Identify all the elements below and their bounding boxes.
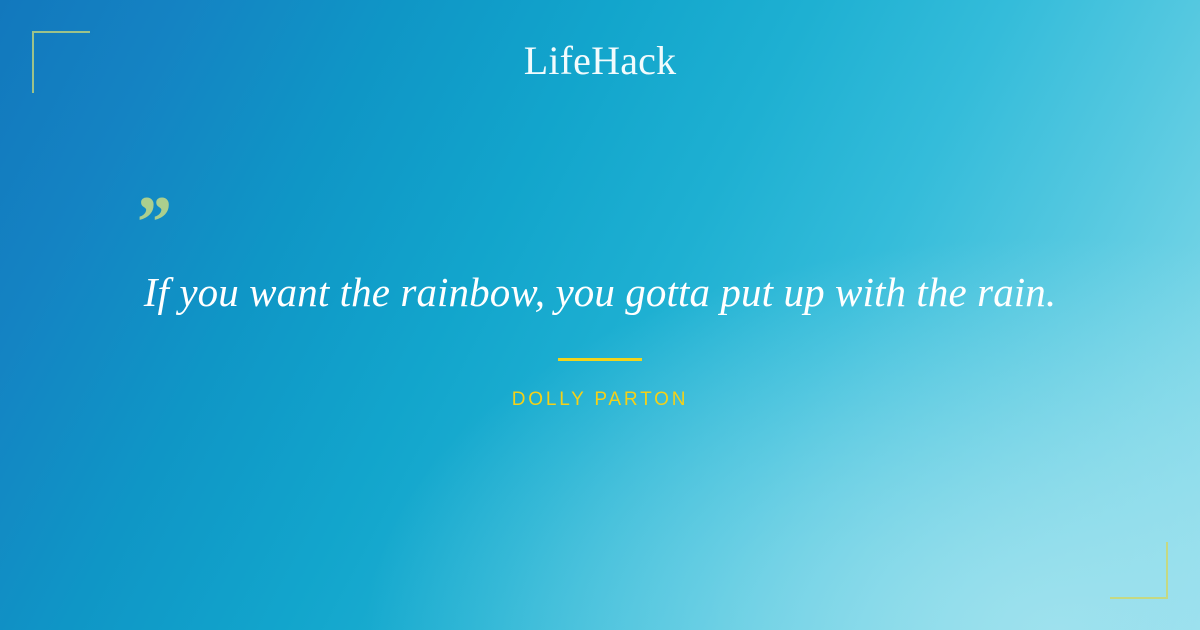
- divider-wrapper: [0, 358, 1200, 361]
- quote-attribution: DOLLY PARTON: [0, 388, 1200, 412]
- quote-card: LifeHack ” If you want the rainbow, you …: [0, 0, 1200, 630]
- corner-bracket-bottom-right-icon: [1110, 542, 1168, 599]
- quote-text: If you want the rainbow, you gotta put u…: [0, 266, 1200, 318]
- quotation-mark-icon: ”: [133, 186, 170, 260]
- lifehack-logo: LifeHack: [0, 38, 1200, 84]
- divider-rule: [558, 358, 642, 361]
